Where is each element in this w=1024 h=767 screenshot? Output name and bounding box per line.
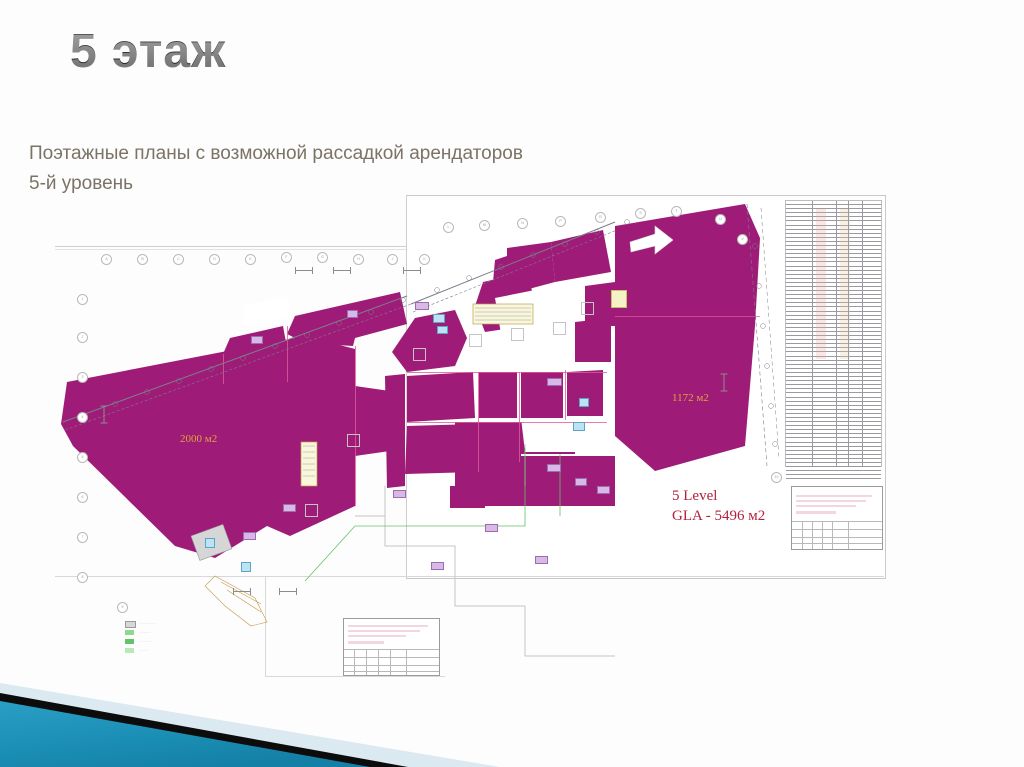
sheet-title-block-main xyxy=(791,486,883,550)
dimension-tick xyxy=(333,270,351,271)
grid-bubble-bottom: 9 xyxy=(117,602,128,613)
annotation-chip xyxy=(251,336,263,344)
annotation-chip xyxy=(283,504,296,512)
grid-bubble-top: A xyxy=(101,254,112,265)
area-label-1172: 1172 м2 xyxy=(672,392,709,404)
grid-bubble-top: B xyxy=(137,254,148,265)
annotation-chip xyxy=(611,290,627,308)
grid-bubble-left: 7 xyxy=(77,532,88,543)
grid-bubble-top: E xyxy=(245,254,256,265)
annotation-chip xyxy=(347,310,358,318)
annotation-chip xyxy=(579,398,589,407)
annotation-chip xyxy=(573,422,585,431)
annotation-chip xyxy=(437,326,448,334)
annotation-chip xyxy=(415,302,429,310)
grid-bubble-left: 5 xyxy=(77,452,88,463)
gla-value-label: GLA - 5496 м2 xyxy=(672,506,765,526)
room-tag xyxy=(553,322,566,335)
grid-bubble-top: R xyxy=(595,212,606,223)
grid-bubble-top: G xyxy=(317,252,328,263)
area-label-2000: 2000 м2 xyxy=(180,433,217,445)
dimension-tick xyxy=(295,270,313,271)
grid-bubble-top: L xyxy=(443,222,454,233)
grid-bubble-top: K xyxy=(419,254,430,265)
annotation-chip xyxy=(433,314,445,323)
dimension-tick xyxy=(403,270,421,271)
annotation-chip xyxy=(485,524,498,532)
gla-summary: 5 Level GLA - 5496 м2 xyxy=(672,486,765,526)
annotation-chip xyxy=(243,532,256,540)
grid-bubble-top: S xyxy=(635,208,646,219)
annotation-chip xyxy=(535,556,548,564)
grid-bubble-left: 6 xyxy=(77,492,88,503)
room-schedule-table xyxy=(785,200,882,467)
dimension-tick xyxy=(279,591,297,592)
grid-bubble-right: 10 xyxy=(771,472,782,483)
grid-bubble-right: V xyxy=(737,234,748,245)
room-tag xyxy=(413,348,426,361)
grid-bubble-left: 3 xyxy=(77,372,88,383)
grid-bubble-left: 1 xyxy=(77,294,88,305)
decorative-corner-graphic xyxy=(0,637,1024,767)
subtitle-line-1: Поэтажные планы с возможной рассадкой ар… xyxy=(29,143,523,164)
room-tag xyxy=(469,334,482,347)
slide-canvas: 5 этаж Поэтажные планы с возможной расса… xyxy=(0,0,1024,767)
annotation-chip xyxy=(431,562,444,570)
annotation-chip xyxy=(205,538,215,548)
annotation-chip xyxy=(597,486,610,494)
dimension-tick xyxy=(104,406,105,424)
room-tag xyxy=(581,302,594,315)
grid-bubble-top: J xyxy=(387,254,398,265)
grid-bubble-top: N xyxy=(517,218,528,229)
annotation-chip xyxy=(547,464,561,472)
grid-bubble-top: P xyxy=(555,216,566,227)
gla-level-label: 5 Level xyxy=(672,486,765,506)
floor-plan-drawing: A B C D E F G H J K L M N P R S T U V 1 … xyxy=(55,186,890,686)
annotation-chip xyxy=(547,378,562,386)
room-tag xyxy=(511,328,524,341)
grid-bubble-top: D xyxy=(209,254,220,265)
grid-bubble-top: C xyxy=(173,254,184,265)
grid-bubble-left: 4 xyxy=(77,412,88,423)
grid-bubble-left: 2 xyxy=(77,332,88,343)
page-title: 5 этаж xyxy=(70,24,226,79)
room-tag xyxy=(347,434,360,447)
grid-bubble-top: U xyxy=(715,214,726,225)
grid-bubble-top: F xyxy=(281,252,292,263)
dimension-tick xyxy=(233,591,251,592)
grid-bubble-top: H xyxy=(353,254,364,265)
dimension-tick xyxy=(724,374,725,392)
annotation-chip xyxy=(393,490,406,498)
annotation-chip xyxy=(575,478,587,486)
room-tag xyxy=(305,504,318,517)
grid-bubble-left: 8 xyxy=(77,572,88,583)
grid-bubble-top: M xyxy=(479,220,490,231)
annotation-chip xyxy=(241,562,251,572)
grid-bubble-top: T xyxy=(671,206,682,217)
